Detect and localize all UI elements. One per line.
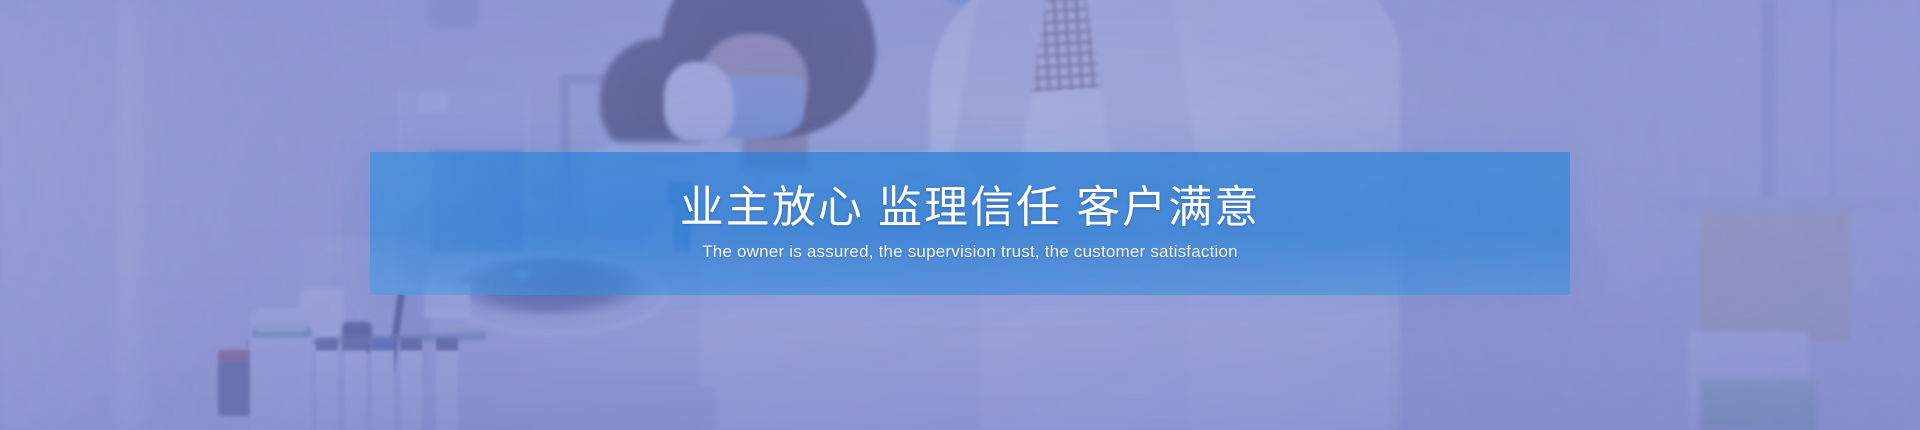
hero-banner: 业主放心 监理信任 客户满意 The owner is assured, the… — [0, 0, 1920, 430]
slogan-band-content: 业主放心 监理信任 客户满意 The owner is assured, the… — [370, 152, 1570, 295]
slogan-headline: 业主放心 监理信任 客户满意 — [680, 185, 1260, 232]
slogan-subheadline: The owner is assured, the supervision tr… — [702, 242, 1238, 262]
slogan-band: 业主放心 监理信任 客户满意 The owner is assured, the… — [370, 152, 1570, 295]
